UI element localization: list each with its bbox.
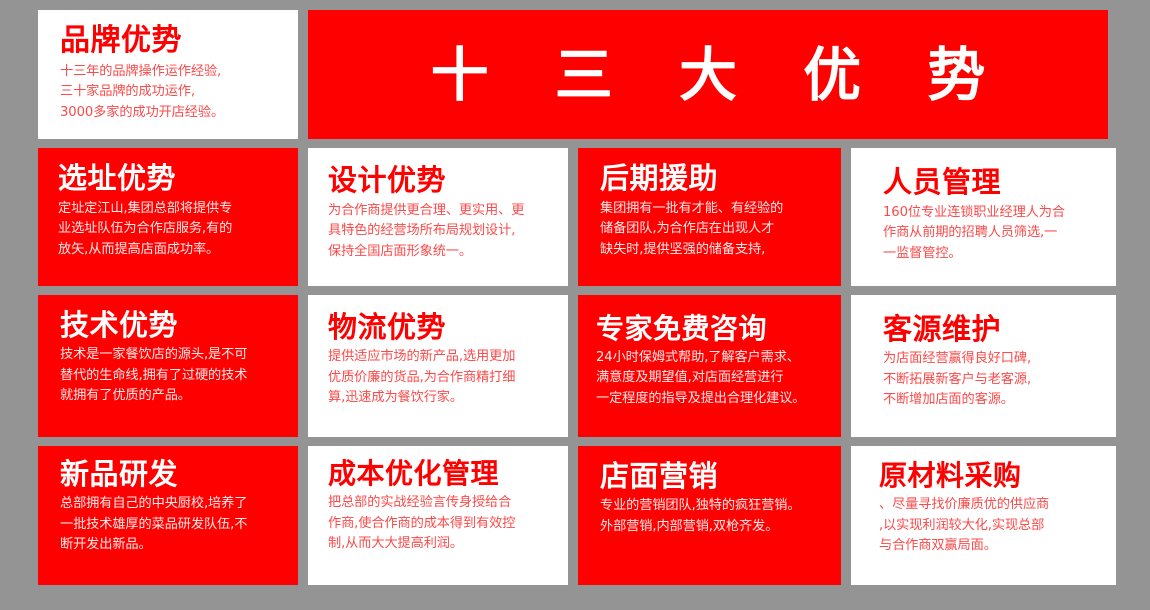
card-body-line: 把总部的实战经验言传身授给合 xyxy=(328,493,556,514)
card-body: 专业的营销团队,独特的疯狂营销。 外部营销,内部营销,双枪齐发。 xyxy=(600,496,829,537)
card-expert-free-consultation[interactable]: 专家免费咨询 24小时保姆式帮助,了解客户需求、 满意度及期望值,对店面经营进行… xyxy=(578,295,841,437)
card-body: 集团拥有一批有才能、有经验的 储备团队,为合作店在出现人才 缺失时,提供坚强的储… xyxy=(600,199,829,261)
card-body-line: 业选址队伍为合作店服务,有的 xyxy=(58,219,286,240)
card-title: 人员管理 xyxy=(883,166,1104,198)
card-body-line: 集团拥有一批有才能、有经验的 xyxy=(600,199,829,220)
card-body-line: 与合作商双赢局面。 xyxy=(879,536,1104,557)
card-body: 把总部的实战经验言传身授给合 作商,使合作商的成本得到有效控 制,从而大大提高利… xyxy=(328,493,556,555)
card-body: 为店面经营赢得良好口碑, 不断拓展新客户与老客源, 不断增加店面的客源。 xyxy=(883,349,1104,411)
card-raw-material-procurement[interactable]: 原材料采购 、尽量寻找价廉质优的供应商 ,以实现利润较大化,实现总部 与合作商双… xyxy=(851,446,1116,585)
card-body-line: 、尽量寻找价廉质优的供应商 xyxy=(879,495,1104,516)
card-body-line: 十三年的品牌操作运作经验, xyxy=(60,62,286,83)
main-banner: 十 三 大 优 势 xyxy=(308,10,1108,139)
card-content: 品牌优势 十三年的品牌操作运作经验, 三十家品牌的成功运作, 3000多家的成功… xyxy=(38,10,298,129)
card-title: 物流优势 xyxy=(328,311,556,343)
card-content: 原材料采购 、尽量寻找价廉质优的供应商 ,以实现利润较大化,实现总部 与合作商双… xyxy=(851,446,1116,563)
card-body-line: 总部拥有自己的中央厨校,培养了 xyxy=(60,494,286,515)
card-body-line: 作商,使合作商的成本得到有效控 xyxy=(328,514,556,535)
card-body-line: 三十家品牌的成功运作, xyxy=(60,82,286,103)
card-body-line: 作商从前期的招聘人员筛选,一 xyxy=(883,223,1104,244)
row-1: 品牌优势 十三年的品牌操作运作经验, 三十家品牌的成功运作, 3000多家的成功… xyxy=(38,10,1108,139)
card-body-line: 储备团队,为合作店在出现人才 xyxy=(600,219,829,240)
card-content: 物流优势 提供适应市场的新产品,选用更加 优质价廉的货品,为合作商精打细 算,迅… xyxy=(308,295,568,415)
card-body-line: 160位专业连锁职业经理人为合 xyxy=(883,203,1104,224)
card-title: 品牌优势 xyxy=(60,24,286,58)
card-title: 新品研发 xyxy=(60,458,286,490)
card-body: 提供适应市场的新产品,选用更加 优质价廉的货品,为合作商精打细 算,迅速成为餐饮… xyxy=(328,347,556,409)
card-content: 后期援助 集团拥有一批有才能、有经验的 储备团队,为合作店在出现人才 缺失时,提… xyxy=(578,148,841,266)
card-body-line: 具特色的经营场所布局规划设计, xyxy=(328,221,556,242)
card-body-line: 为店面经营赢得良好口碑, xyxy=(883,349,1104,370)
card-body-line: 一定程度的指导及提出合理化建议。 xyxy=(596,389,829,410)
card-content: 设计优势 为合作商提供更合理、更实用、更 具特色的经营场所布局规划设计, 保持全… xyxy=(308,148,568,268)
card-body-line: 保持全国店面形象统一。 xyxy=(328,242,556,263)
card-body: 定址定江山,集团总部将提供专 业选址队伍为合作店服务,有的 放矢,从而提高店面成… xyxy=(58,199,286,261)
card-body-line: 替代的生命线,拥有了过硬的技术 xyxy=(60,366,286,387)
card-body-line: 算,迅速成为餐饮行家。 xyxy=(328,388,556,409)
card-logistics-advantage[interactable]: 物流优势 提供适应市场的新产品,选用更加 优质价廉的货品,为合作商精打细 算,迅… xyxy=(308,295,568,437)
card-body-line: ,以实现利润较大化,实现总部 xyxy=(879,516,1104,537)
card-title: 店面营销 xyxy=(600,460,829,492)
card-body-line: 断开发出新品。 xyxy=(60,535,286,556)
card-body-line: 满意度及期望值,对店面经营进行 xyxy=(596,368,829,389)
card-title: 成本优化管理 xyxy=(328,458,556,489)
card-later-stage-assistance[interactable]: 后期援助 集团拥有一批有才能、有经验的 储备团队,为合作店在出现人才 缺失时,提… xyxy=(578,148,841,285)
card-body: 160位专业连锁职业经理人为合 作商从前期的招聘人员筛选,一 一监督管控。 xyxy=(883,203,1104,265)
row-4: 新品研发 总部拥有自己的中央厨校,培养了 一批技术雄厚的菜品研发队伍,不 断开发… xyxy=(38,446,1108,585)
card-body: 为合作商提供更合理、更实用、更 具特色的经营场所布局规划设计, 保持全国店面形象… xyxy=(328,201,556,263)
card-store-marketing[interactable]: 店面营销 专业的营销团队,独特的疯狂营销。 外部营销,内部营销,双枪齐发。 xyxy=(578,446,841,585)
card-title: 选址优势 xyxy=(58,162,286,194)
card-body: 总部拥有自己的中央厨校,培养了 一批技术雄厚的菜品研发队伍,不 断开发出新品。 xyxy=(60,494,286,556)
card-content: 专家免费咨询 24小时保姆式帮助,了解客户需求、 满意度及期望值,对店面经营进行… xyxy=(578,295,841,416)
card-body-line: 放矢,从而提高店面成功率。 xyxy=(58,240,286,261)
card-body-line: 为合作商提供更合理、更实用、更 xyxy=(328,201,556,222)
card-body-line: 缺失时,提供坚强的储备支持, xyxy=(600,240,829,261)
card-cost-optimization-management[interactable]: 成本优化管理 把总部的实战经验言传身授给合 作商,使合作商的成本得到有效控 制,… xyxy=(308,446,568,585)
card-body-line: 不断增加店面的客源。 xyxy=(883,390,1104,411)
card-customer-source-maintenance[interactable]: 客源维护 为店面经营赢得良好口碑, 不断拓展新客户与老客源, 不断增加店面的客源… xyxy=(851,295,1116,437)
card-body-line: 定址定江山,集团总部将提供专 xyxy=(58,199,286,220)
card-body: 技术是一家餐饮店的源头,是不可 替代的生命线,拥有了过硬的技术 就拥有了优质的产… xyxy=(60,345,286,407)
card-body: 24小时保姆式帮助,了解客户需求、 满意度及期望值,对店面经营进行 一定程度的指… xyxy=(596,348,829,410)
card-title: 技术优势 xyxy=(60,309,286,341)
card-content: 成本优化管理 把总部的实战经验言传身授给合 作商,使合作商的成本得到有效控 制,… xyxy=(308,446,568,561)
card-title: 客源维护 xyxy=(883,313,1104,345)
card-content: 技术优势 技术是一家餐饮店的源头,是不可 替代的生命线,拥有了过硬的技术 就拥有… xyxy=(38,295,298,413)
card-body-line: 不断拓展新客户与老客源, xyxy=(883,370,1104,391)
card-title: 原材料采购 xyxy=(879,460,1104,491)
card-title: 专家免费咨询 xyxy=(596,313,829,344)
card-body-line: 外部营销,内部营销,双枪齐发。 xyxy=(600,517,829,538)
card-site-selection-advantage[interactable]: 选址优势 定址定江山,集团总部将提供专 业选址队伍为合作店服务,有的 放矢,从而… xyxy=(38,148,298,285)
card-brand-advantage[interactable]: 品牌优势 十三年的品牌操作运作经验, 三十家品牌的成功运作, 3000多家的成功… xyxy=(38,10,298,139)
infographic-board: 品牌优势 十三年的品牌操作运作经验, 三十家品牌的成功运作, 3000多家的成功… xyxy=(0,0,1150,610)
card-body-line: 提供适应市场的新产品,选用更加 xyxy=(328,347,556,368)
card-new-product-rd[interactable]: 新品研发 总部拥有自己的中央厨校,培养了 一批技术雄厚的菜品研发队伍,不 断开发… xyxy=(38,446,298,585)
card-body-line: 一监督管控。 xyxy=(883,244,1104,265)
card-technology-advantage[interactable]: 技术优势 技术是一家餐饮店的源头,是不可 替代的生命线,拥有了过硬的技术 就拥有… xyxy=(38,295,298,437)
card-body-line: 制,从而大大提高利润。 xyxy=(328,534,556,555)
card-body-line: 一批技术雄厚的菜品研发队伍,不 xyxy=(60,515,286,536)
card-design-advantage[interactable]: 设计优势 为合作商提供更合理、更实用、更 具特色的经营场所布局规划设计, 保持全… xyxy=(308,148,568,285)
banner-title: 十 三 大 优 势 xyxy=(408,46,1009,104)
card-personnel-management[interactable]: 人员管理 160位专业连锁职业经理人为合 作商从前期的招聘人员筛选,一 一监督管… xyxy=(851,148,1116,285)
card-body-line: 技术是一家餐饮店的源头,是不可 xyxy=(60,345,286,366)
card-content: 新品研发 总部拥有自己的中央厨校,培养了 一批技术雄厚的菜品研发队伍,不 断开发… xyxy=(38,446,298,562)
card-body: 十三年的品牌操作运作经验, 三十家品牌的成功运作, 3000多家的成功开店经验。 xyxy=(60,62,286,124)
card-body: 、尽量寻找价廉质优的供应商 ,以实现利润较大化,实现总部 与合作商双赢局面。 xyxy=(879,495,1104,557)
card-content: 人员管理 160位专业连锁职业经理人为合 作商从前期的招聘人员筛选,一 一监督管… xyxy=(851,148,1116,270)
card-title: 后期援助 xyxy=(600,162,829,194)
card-body-line: 优质价廉的货品,为合作商精打细 xyxy=(328,368,556,389)
card-content: 客源维护 为店面经营赢得良好口碑, 不断拓展新客户与老客源, 不断增加店面的客源… xyxy=(851,295,1116,417)
card-body-line: 24小时保姆式帮助,了解客户需求、 xyxy=(596,348,829,369)
card-body-line: 专业的营销团队,独特的疯狂营销。 xyxy=(600,496,829,517)
card-content: 店面营销 专业的营销团队,独特的疯狂营销。 外部营销,内部营销,双枪齐发。 xyxy=(578,446,841,543)
card-title: 设计优势 xyxy=(328,164,556,196)
card-body-line: 3000多家的成功开店经验。 xyxy=(60,103,286,124)
card-body-line: 就拥有了优质的产品。 xyxy=(60,386,286,407)
card-content: 选址优势 定址定江山,集团总部将提供专 业选址队伍为合作店服务,有的 放矢,从而… xyxy=(38,148,298,266)
row-2: 选址优势 定址定江山,集团总部将提供专 业选址队伍为合作店服务,有的 放矢,从而… xyxy=(38,148,1108,285)
row-3: 技术优势 技术是一家餐饮店的源头,是不可 替代的生命线,拥有了过硬的技术 就拥有… xyxy=(38,295,1108,437)
